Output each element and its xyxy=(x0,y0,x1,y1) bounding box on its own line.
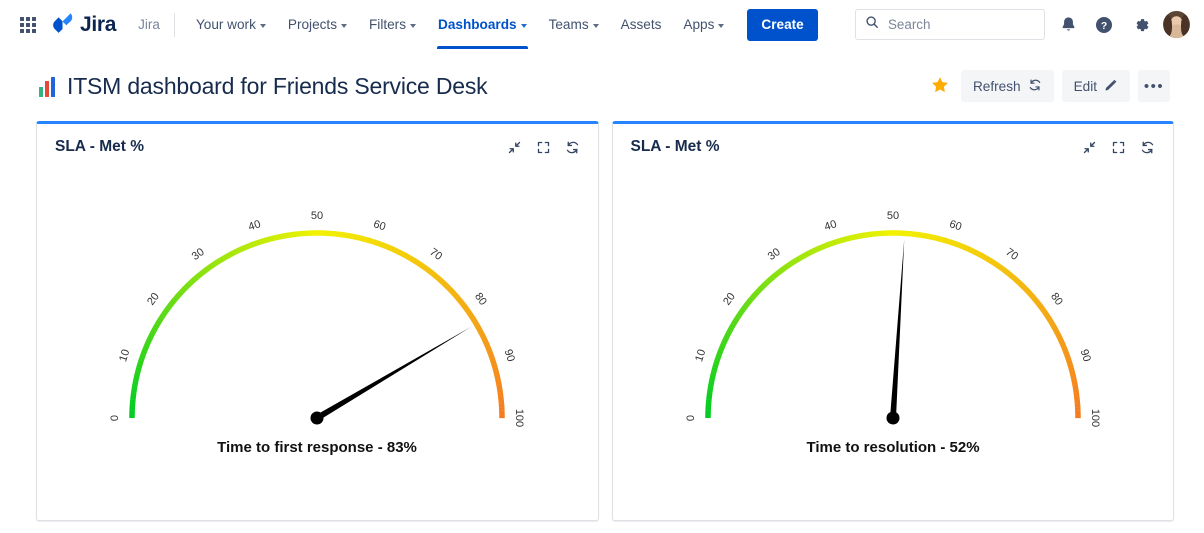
gauge-tick-label: 30 xyxy=(190,246,207,263)
primary-nav-items: Your work Projects Filters Dashboards Te… xyxy=(185,0,735,49)
gadget-title: SLA - Met % xyxy=(631,138,720,156)
nav-item-label: Your work xyxy=(196,17,256,32)
gauge-tick-label: 10 xyxy=(693,348,708,363)
gauge-tick-label: 70 xyxy=(1003,246,1020,263)
jira-wordmark: Jira xyxy=(80,13,116,37)
page-title-group: ITSM dashboard for Friends Service Desk xyxy=(36,73,487,100)
nav-item-label: Dashboards xyxy=(438,17,517,32)
gauge-chart: 0102030405060708090100Time to first resp… xyxy=(57,170,577,490)
nav-item-teams[interactable]: Teams xyxy=(538,0,610,49)
jira-home-link[interactable]: Jira xyxy=(52,11,116,38)
star-icon xyxy=(930,75,950,98)
nav-item-assets[interactable]: Assets xyxy=(610,0,673,49)
search-icon xyxy=(865,15,879,34)
nav-left-group: Jira Jira Your work Projects Filters Das… xyxy=(14,0,818,49)
nav-item-dashboards[interactable]: Dashboards xyxy=(427,0,538,49)
chevron-down-icon xyxy=(341,24,347,28)
gauge-tick-label: 40 xyxy=(823,218,838,233)
create-button[interactable]: Create xyxy=(747,9,817,41)
refresh-button[interactable]: Refresh xyxy=(961,70,1054,102)
gadget-sla-met-resolution: SLA - Met % xyxy=(612,121,1175,521)
chevron-down-icon xyxy=(593,24,599,28)
gauge-needle-hub xyxy=(886,412,899,425)
nav-item-apps[interactable]: Apps xyxy=(672,0,735,49)
gauge-tick-label: 20 xyxy=(145,291,162,308)
gauge-tick-label: 60 xyxy=(372,218,387,233)
refresh-icon[interactable] xyxy=(1140,140,1155,155)
avatar[interactable] xyxy=(1163,11,1190,38)
gadget-header: SLA - Met % xyxy=(613,124,1174,166)
gauge-tick-label: 100 xyxy=(1089,409,1101,427)
pencil-icon xyxy=(1104,78,1118,95)
gauge-tick-label: 90 xyxy=(502,348,517,363)
nav-item-label: Filters xyxy=(369,17,406,32)
gauge-tick-label: 80 xyxy=(1048,291,1065,308)
gauge-needle xyxy=(316,327,472,421)
grid-apps-icon xyxy=(20,17,36,33)
chevron-down-icon xyxy=(718,24,724,28)
edit-button-label: Edit xyxy=(1074,79,1097,94)
chevron-down-icon xyxy=(260,24,266,28)
notifications-bell-icon[interactable] xyxy=(1055,12,1081,38)
refresh-button-label: Refresh xyxy=(973,79,1021,94)
gauge-caption: Time to first response - 83% xyxy=(217,439,417,456)
gauge-needle xyxy=(890,239,904,418)
gauge-tick-label: 10 xyxy=(117,348,132,363)
nav-item-label: Assets xyxy=(621,17,662,32)
gauge-tick-label: 30 xyxy=(765,246,782,263)
page-header: ITSM dashboard for Friends Service Desk … xyxy=(0,49,1204,105)
nav-divider xyxy=(174,13,175,37)
gauge-tick-label: 50 xyxy=(887,210,899,222)
gadget-body: 0102030405060708090100Time to first resp… xyxy=(37,166,598,520)
nav-item-projects[interactable]: Projects xyxy=(277,0,358,49)
chevron-down-icon xyxy=(410,24,416,28)
favorite-star-button[interactable] xyxy=(927,73,953,99)
gauge-tick-label: 100 xyxy=(513,409,525,427)
page-header-actions: Refresh Edit ••• xyxy=(927,70,1170,102)
refresh-icon[interactable] xyxy=(565,140,580,155)
settings-gear-icon[interactable] xyxy=(1127,12,1153,38)
gadget-body: 0102030405060708090100Time to resolution… xyxy=(613,166,1174,520)
gauge-tick-label: 50 xyxy=(311,210,323,222)
gauge-tick-label: 80 xyxy=(472,291,489,308)
page-title: ITSM dashboard for Friends Service Desk xyxy=(67,73,487,100)
gadget-header-icons xyxy=(507,140,580,155)
gauge-tick-label: 0 xyxy=(109,415,121,421)
gauge-tick-label: 90 xyxy=(1077,348,1092,363)
refresh-icon xyxy=(1028,78,1042,95)
more-actions-icon: ••• xyxy=(1144,79,1164,94)
nav-item-your-work[interactable]: Your work xyxy=(185,0,277,49)
nav-right-group: ? xyxy=(855,9,1190,40)
nav-item-label: Teams xyxy=(549,17,589,32)
bar-chart-emoji-icon xyxy=(36,75,58,97)
edit-button[interactable]: Edit xyxy=(1062,70,1130,102)
gauge-tick-label: 40 xyxy=(247,218,262,233)
collapse-icon[interactable] xyxy=(507,140,522,155)
help-icon[interactable]: ? xyxy=(1091,12,1117,38)
top-navigation-bar: Jira Jira Your work Projects Filters Das… xyxy=(0,0,1204,49)
maximize-icon[interactable] xyxy=(536,140,551,155)
gadget-title: SLA - Met % xyxy=(55,138,144,156)
gauge-needle-hub xyxy=(311,412,324,425)
dashboard-grid: SLA - Met % xyxy=(0,105,1204,521)
maximize-icon[interactable] xyxy=(1111,140,1126,155)
nav-item-filters[interactable]: Filters xyxy=(358,0,427,49)
gauge-tick-label: 70 xyxy=(428,246,445,263)
product-label: Jira xyxy=(138,17,160,32)
gauge-tick-label: 60 xyxy=(948,218,963,233)
chevron-down-icon xyxy=(521,24,527,28)
nav-item-label: Projects xyxy=(288,17,337,32)
collapse-icon[interactable] xyxy=(1082,140,1097,155)
gadget-header: SLA - Met % xyxy=(37,124,598,166)
more-actions-button[interactable]: ••• xyxy=(1138,70,1170,102)
gadget-header-icons xyxy=(1082,140,1155,155)
gauge-caption: Time to resolution - 52% xyxy=(806,439,979,456)
nav-item-label: Apps xyxy=(683,17,714,32)
gadget-sla-met-first-response: SLA - Met % xyxy=(36,121,599,521)
gauge-chart: 0102030405060708090100Time to resolution… xyxy=(633,170,1153,490)
app-switcher-icon[interactable] xyxy=(14,11,42,39)
avatar-hair-left xyxy=(1164,15,1172,37)
search-box[interactable] xyxy=(855,9,1045,40)
gauge-tick-label: 0 xyxy=(685,415,697,421)
gauge-tick-label: 20 xyxy=(721,291,738,308)
jira-logo-icon xyxy=(52,11,74,38)
svg-text:?: ? xyxy=(1101,20,1107,31)
search-input[interactable] xyxy=(886,16,1035,33)
